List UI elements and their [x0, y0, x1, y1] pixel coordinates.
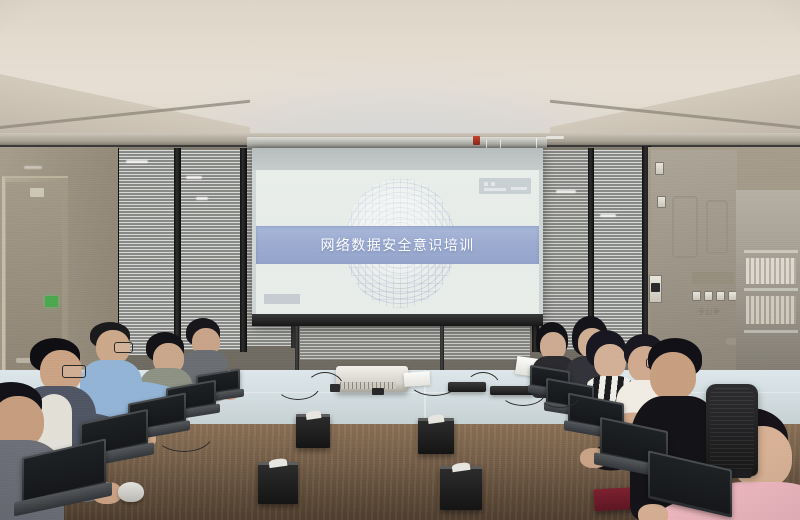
- screen-bottom-weight-bar: [252, 314, 543, 326]
- cable-connector-2: [372, 388, 384, 395]
- projection-screen: 网络数据安全意识培训: [252, 148, 543, 326]
- tissue-box-3: [258, 462, 298, 504]
- slide-footer-placeholder: [264, 294, 300, 304]
- presentation-slide: 网络数据安全意识培训: [256, 170, 539, 314]
- ceiling-sensor-2: [657, 196, 666, 208]
- left-wall-light-streak: [24, 166, 42, 169]
- light-reflection-1: [126, 160, 148, 163]
- shelf-3: [744, 330, 798, 333]
- projector-vent: [340, 382, 396, 389]
- cable-connector-1: [330, 384, 340, 392]
- window-mullion-2: [174, 148, 181, 356]
- light-reflection-3: [196, 197, 208, 200]
- light-reflection-2: [186, 176, 202, 179]
- slide-title-banner: 网络数据安全意识培训: [256, 226, 539, 264]
- tissue-box-1: [296, 414, 330, 448]
- wall-switch-3[interactable]: [716, 291, 725, 301]
- tissue-box-4: [440, 466, 482, 510]
- reflected-shape-2: [706, 200, 728, 254]
- wall-switch-2[interactable]: [704, 291, 713, 301]
- cable-bracket: [546, 136, 564, 139]
- wall-plate-left: [30, 188, 44, 197]
- slide-logo-placeholder: [479, 178, 531, 194]
- reflected-shape-3: [692, 272, 734, 284]
- shelf-2: [744, 288, 798, 291]
- tissue-box-2: [418, 418, 454, 454]
- shelf-1: [744, 250, 798, 253]
- screen-stand-leg-left: [295, 326, 299, 372]
- right-door-decal: 予山争: [692, 308, 726, 324]
- window-mullion-3: [240, 148, 247, 352]
- mouse-left[interactable]: [118, 482, 144, 502]
- office-chair[interactable]: [706, 384, 758, 476]
- exit-sign-icon: [45, 296, 58, 307]
- light-reflection-5: [600, 214, 616, 217]
- binder-row-1: [746, 258, 796, 284]
- cable-clip-red: [473, 136, 480, 145]
- wall-switch-1[interactable]: [692, 291, 701, 301]
- screen-top-margin: [252, 148, 543, 170]
- ceiling-sensor-1: [655, 162, 664, 175]
- slide-title: 网络数据安全意识培训: [321, 235, 475, 255]
- door-decal-text: [62, 296, 92, 312]
- blinds-panel-1: [118, 150, 174, 355]
- binder-row-2: [746, 296, 796, 324]
- conference-room-photo: 予山争 网络数据安全意识培训: [0, 0, 800, 520]
- light-reflection-4: [556, 190, 576, 193]
- reflected-shape-1: [672, 196, 698, 258]
- paper-sheet-1: [404, 371, 431, 387]
- card-reader-icon[interactable]: [651, 283, 660, 292]
- screen-stand-leg-right: [440, 326, 444, 372]
